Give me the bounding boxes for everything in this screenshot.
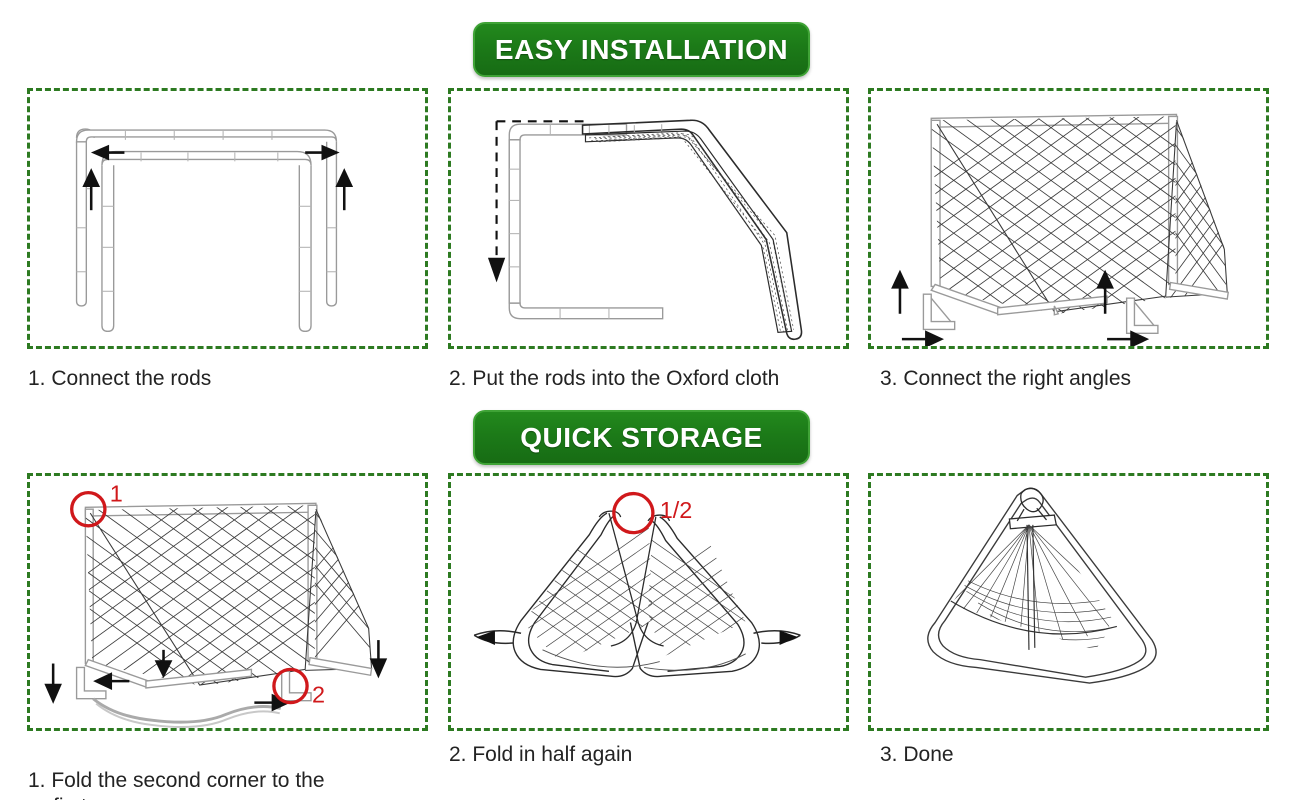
illustration-done-folded-bundle: [871, 476, 1266, 728]
goal-net-front: [917, 91, 1235, 346]
step-panel-storage-1: 1 2: [27, 473, 428, 731]
step-panel-install-1: [27, 88, 428, 349]
banner-easy-installation-label: EASY INSTALLATION: [495, 34, 788, 66]
step-panel-storage-3: [868, 473, 1269, 731]
caption-install-3: 3. Connect the right angles: [880, 366, 1280, 392]
caption-storage-2: 2. Fold in half again: [449, 742, 849, 768]
illustration-connect-right-angles: [871, 91, 1266, 346]
right-angle-bracket-right: [1127, 298, 1158, 333]
assembly-arrow-right-right: [1107, 332, 1146, 346]
caption-install-2: 2. Put the rods into the Oxford cloth: [449, 366, 854, 392]
step-panel-install-3: [868, 88, 1269, 349]
illustration-rods-into-oxford-cloth: [451, 91, 846, 346]
fold-arrow-down-left: [46, 664, 60, 701]
fold-arrow-down-mid: [157, 650, 171, 675]
illustration-fold-in-half-again: 1/2: [451, 476, 846, 728]
marker-label-1: 1: [110, 480, 123, 506]
fold-arrow-down-right: [372, 640, 386, 675]
banner-quick-storage: QUICK STORAGE: [473, 410, 810, 465]
marker-label-2: 2: [312, 682, 325, 708]
caption-storage-1: 1. Fold the second corner to the first c…: [28, 742, 428, 800]
assembly-arrow-up-right: [337, 171, 351, 210]
fold-arrow-side-right: [754, 631, 801, 644]
folded-lobe-left: [513, 513, 648, 676]
folded-lobe-right: [630, 517, 759, 677]
right-angle-bracket-left: [923, 294, 954, 329]
step-panel-storage-2: 1/2: [448, 473, 849, 731]
marker-label-half: 1/2: [660, 497, 693, 523]
marker-circle-1: 1: [72, 480, 123, 525]
caption-storage-1-line2: first corner: [28, 794, 428, 800]
instruction-sheet: EASY INSTALLATION: [0, 0, 1293, 800]
banner-easy-installation: EASY INSTALLATION: [473, 22, 810, 77]
step-panel-install-2: [448, 88, 849, 349]
illustration-connect-the-rods: [30, 91, 425, 346]
banner-quick-storage-label: QUICK STORAGE: [520, 422, 762, 454]
caption-storage-1-line1: 1. Fold the second corner to the: [28, 769, 325, 792]
caption-install-1: 1. Connect the rods: [28, 366, 428, 392]
assembly-arrow-up-left: [893, 273, 907, 314]
caption-storage-3: 3. Done: [880, 742, 1280, 768]
oxford-cloth-sleeve: [585, 131, 793, 333]
bundle-clip: [1009, 488, 1056, 529]
marker-circle-half: 1/2: [614, 494, 693, 533]
assembly-arrow-right-left: [902, 332, 941, 346]
direction-arrow-dashed: [490, 121, 587, 278]
illustration-fold-second-corner: 1 2: [30, 476, 425, 728]
